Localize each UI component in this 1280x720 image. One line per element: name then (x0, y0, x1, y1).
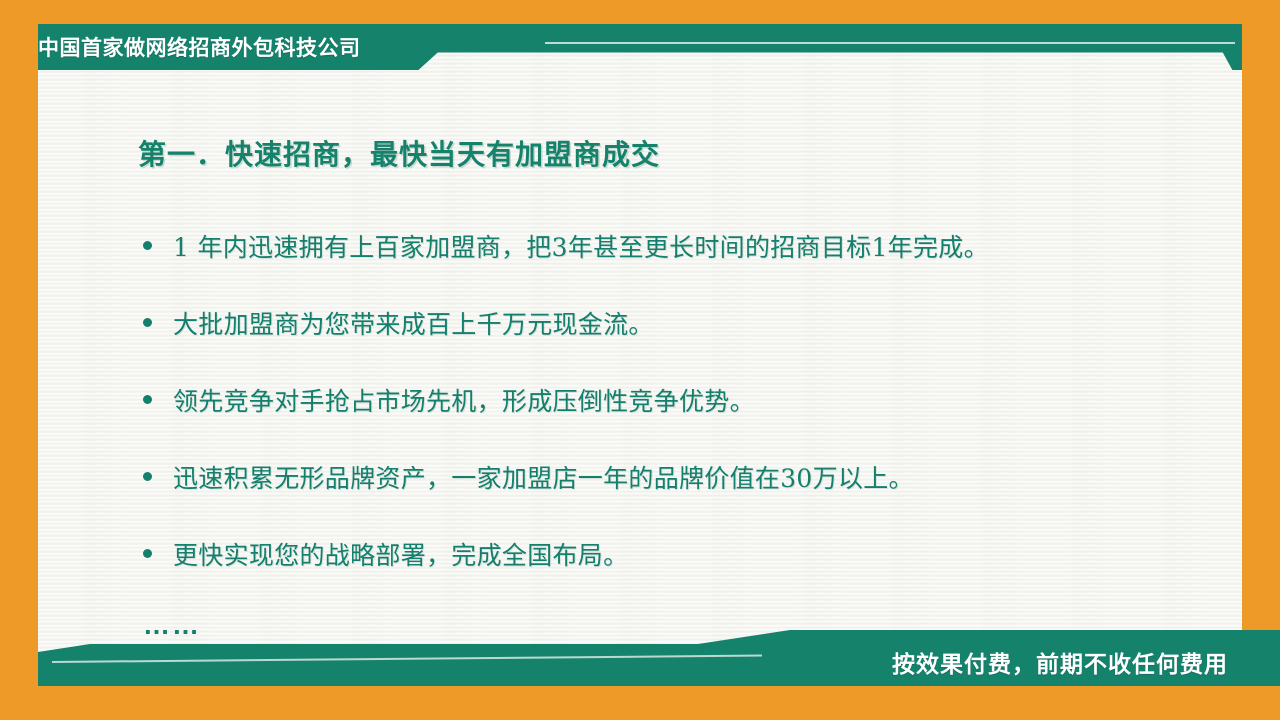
footer-tagline: 按效果付费，前期不收任何费用 (892, 645, 1228, 679)
bullet-dot-icon (143, 395, 152, 404)
list-item: 1 年内迅速拥有上百家加盟商，把3年甚至更长时间的招商目标1年完成。 (143, 228, 1213, 305)
bullet-dot-icon (143, 241, 152, 250)
list-item-label: 更快实现您的战略部署，完成全国布局。 (173, 536, 628, 572)
bullet-list: 1 年内迅速拥有上百家加盟商，把3年甚至更长时间的招商目标1年完成。 大批加盟商… (143, 228, 1213, 613)
bullet-dot-icon (143, 472, 152, 481)
slide-canvas: 中国首家做网络招商外包科技公司 第一．快速招商，最快当天有加盟商成交 1 年内迅… (0, 0, 1280, 720)
list-item: 迅速积累无形品牌资产，一家加盟店一年的品牌价值在30万以上。 (143, 459, 1213, 536)
bullet-dot-icon (143, 318, 152, 327)
page-title: 第一．快速招商，最快当天有加盟商成交 (138, 133, 660, 173)
list-item-label: 1 年内迅速拥有上百家加盟商，把3年甚至更长时间的招商目标1年完成。 (173, 228, 989, 264)
list-item: 大批加盟商为您带来成百上千万元现金流。 (143, 305, 1213, 382)
list-item: 领先竞争对手抢占市场先机，形成压倒性竞争优势。 (143, 382, 1213, 459)
list-item: 更快实现您的战略部署，完成全国布局。 (143, 536, 1213, 613)
list-item-label: 领先竞争对手抢占市场先机，形成压倒性竞争优势。 (173, 382, 755, 418)
header-title: 中国首家做网络招商外包科技公司 (38, 24, 361, 70)
list-item-label: 迅速积累无形品牌资产，一家加盟店一年的品牌价值在30万以上。 (173, 459, 914, 495)
header-title-text: 中国首家做网络招商外包科技公司 (38, 32, 361, 62)
continuation-ellipsis: …… (143, 612, 201, 639)
bullet-dot-icon (143, 549, 152, 558)
header-divider-line (545, 42, 1235, 44)
list-item-label: 大批加盟商为您带来成百上千万元现金流。 (173, 305, 654, 341)
